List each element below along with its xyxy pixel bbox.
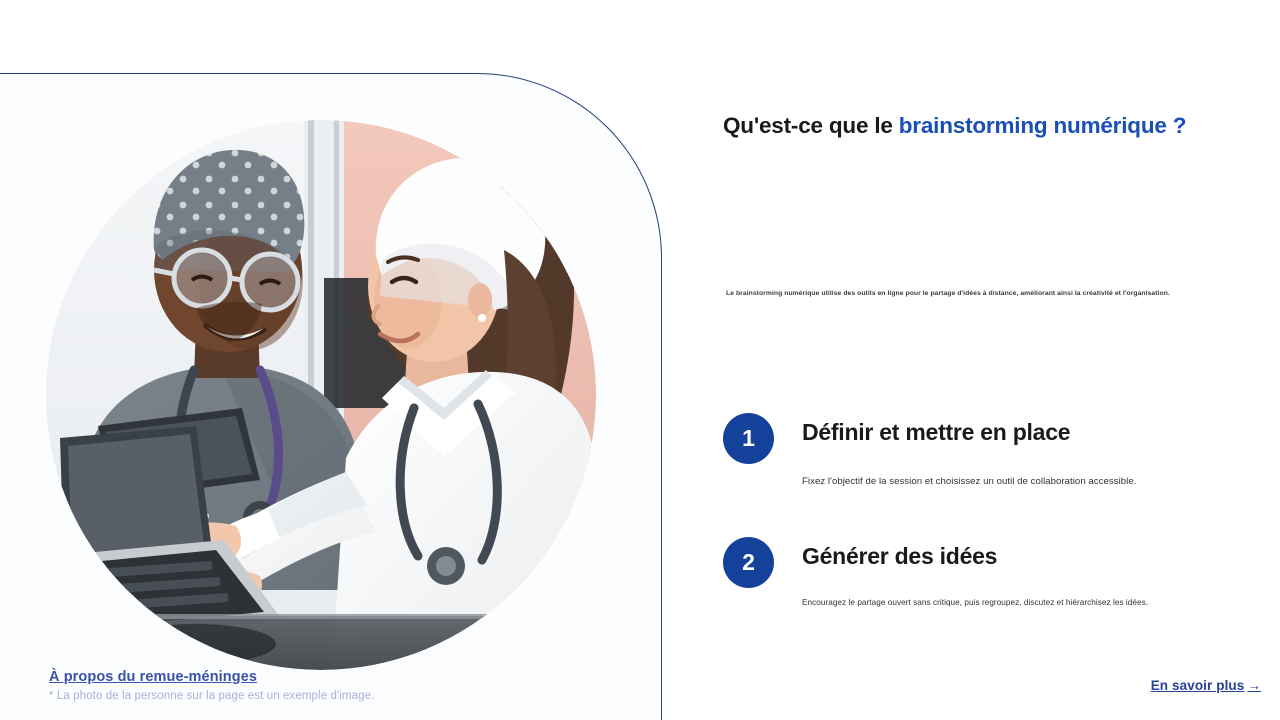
photo-disclaimer: * La photo de la personne sur la page es…	[49, 689, 374, 704]
left-panel: À propos du remue-méninges * La photo de…	[0, 73, 662, 720]
step-title-1: Définir et mettre en place	[802, 419, 1070, 446]
page-title-lead: Qu'est-ce que le	[723, 113, 899, 138]
step-description-2: Encouragez le partage ouvert sans critiq…	[802, 597, 1272, 609]
page-title-accent: brainstorming numérique ?	[899, 113, 1187, 138]
step-title-2: Générer des idées	[802, 543, 997, 570]
intro-paragraph: Le brainstorming numérique utilise des o…	[726, 289, 1226, 299]
right-panel: Qu'est-ce que le brainstorming numérique…	[662, 0, 1280, 720]
arrow-right-icon: →	[1247, 678, 1261, 693]
step-description-1: Fixez l'objectif de la session et choisi…	[802, 475, 1272, 489]
step-number-badge-1: 1	[723, 413, 774, 464]
left-footer: À propos du remue-méninges * La photo de…	[49, 668, 374, 704]
hero-photo	[46, 120, 596, 670]
learn-more-link[interactable]: En savoir plus→	[1151, 678, 1261, 693]
page-title: Qu'est-ce que le brainstorming numérique…	[723, 113, 1186, 139]
step-number-badge-2: 2	[723, 537, 774, 588]
hero-photo-illustration	[46, 120, 596, 670]
learn-more-label: En savoir plus	[1151, 678, 1245, 693]
about-brainstorming-link[interactable]: À propos du remue-méninges	[49, 668, 374, 687]
